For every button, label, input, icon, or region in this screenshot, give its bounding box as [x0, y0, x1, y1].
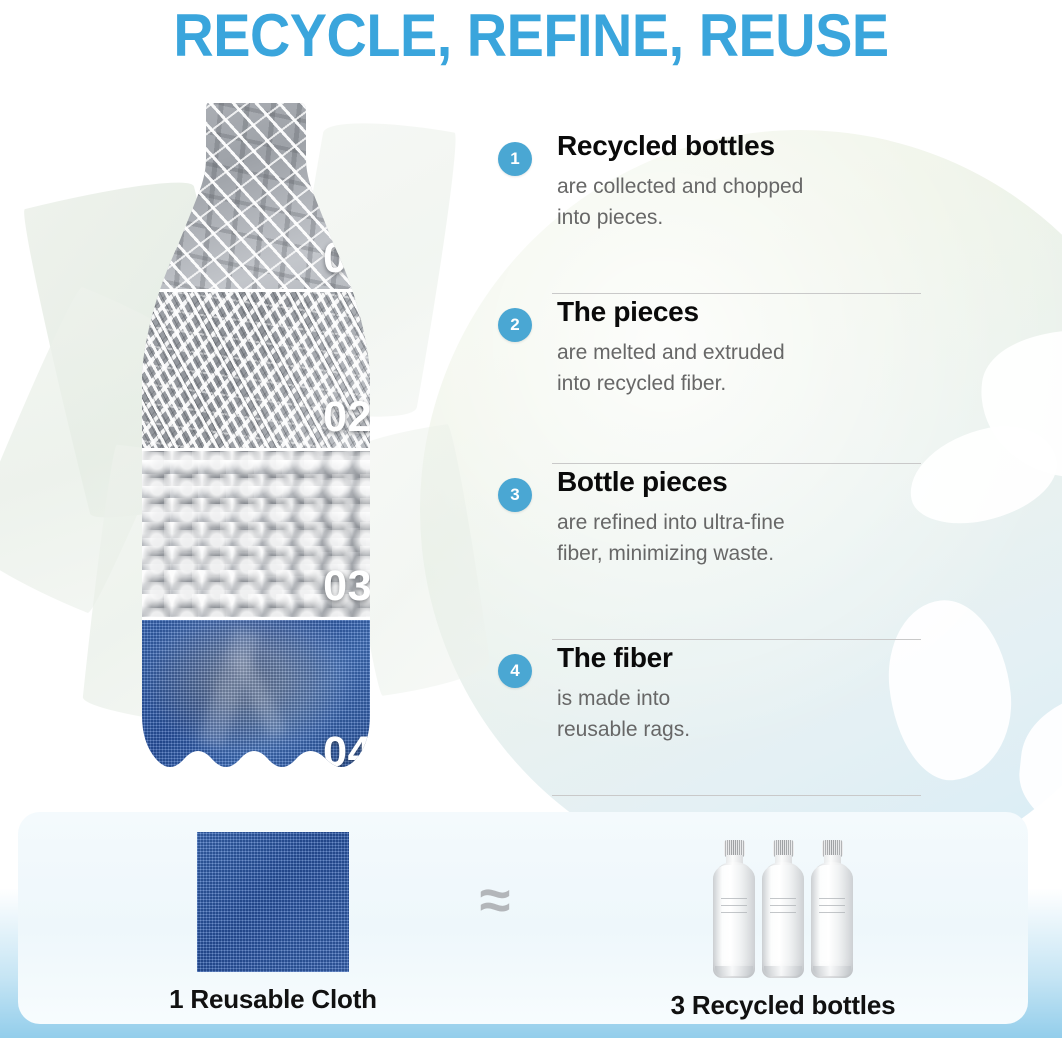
- step-title: The pieces: [557, 294, 935, 330]
- comparison-right-label: 3 Recycled bottles: [618, 990, 948, 1021]
- bottle-ring: [721, 898, 747, 899]
- step-badge-3: 3: [498, 478, 532, 512]
- bottle-base: [764, 966, 802, 976]
- step-description: are melted and extruded into recycled fi…: [557, 337, 935, 399]
- globe-landmass: [971, 315, 1062, 496]
- bottle-ring: [721, 905, 747, 906]
- step-divider: [552, 795, 921, 796]
- bottle-ring: [770, 905, 796, 906]
- step-item-2: 2 The pieces are melted and extruded int…: [495, 294, 935, 464]
- bottle-base: [813, 966, 851, 976]
- step-description-line: fiber, minimizing waste.: [557, 538, 935, 569]
- step-description-line: reusable rags.: [557, 714, 935, 745]
- bottle-body: [762, 865, 804, 978]
- step-title: Bottle pieces: [557, 464, 935, 500]
- step-description: is made into reusable rags.: [557, 683, 935, 745]
- step-description: are collected and chopped into pieces.: [557, 171, 935, 233]
- step-body: Bottle pieces are refined into ultra-fin…: [495, 464, 935, 569]
- approximately-equal-icon: ≈: [462, 868, 528, 932]
- step-item-1: 1 Recycled bottles are collected and cho…: [495, 128, 935, 294]
- step-description-line: are refined into ultra-fine: [557, 507, 935, 538]
- plastic-bottle-icon: [809, 840, 855, 978]
- step-body: Recycled bottles are collected and chopp…: [495, 128, 935, 233]
- bottle-silhouette: 01 02 03 04: [120, 103, 388, 783]
- step-description-line: into pieces.: [557, 202, 935, 233]
- bottle-ring: [770, 898, 796, 899]
- bottle-band-04: 04: [120, 620, 388, 783]
- band-number-label: 01: [323, 234, 372, 283]
- cloth-swatch-icon: [197, 832, 349, 972]
- step-description-line: are collected and chopped: [557, 171, 935, 202]
- step-badge-1: 1: [498, 142, 532, 176]
- infographic-page: RECYCLE, REFINE, REUSE 01 02 03: [0, 0, 1062, 1038]
- step-description-line: are melted and extruded: [557, 337, 935, 368]
- bottle-band-01: 01: [120, 103, 388, 289]
- comparison-left: 1 Reusable Cloth: [158, 832, 388, 1015]
- page-title: RECYCLE, REFINE, REUSE: [37, 4, 1025, 68]
- bottle-diagram: 01 02 03 04: [120, 103, 388, 783]
- bottle-base: [715, 966, 753, 976]
- step-description-line: is made into: [557, 683, 935, 714]
- bottle-ring: [819, 898, 845, 899]
- band-number-label: 04: [323, 728, 372, 777]
- plastic-bottle-icon: [711, 840, 757, 978]
- bottle-band-03: 03: [120, 451, 388, 617]
- step-description: are refined into ultra-fine fiber, minim…: [557, 507, 935, 569]
- bottle-band-02: 02: [120, 292, 388, 448]
- step-badge-4: 4: [498, 654, 532, 688]
- step-item-4: 4 The fiber is made into reusable rags.: [495, 640, 935, 790]
- crushed-pet-flakes-texture: [120, 103, 388, 289]
- step-body: The fiber is made into reusable rags.: [495, 640, 935, 745]
- plastic-bottle-icon: [760, 840, 806, 978]
- step-badge-2: 2: [498, 308, 532, 342]
- bottle-body: [713, 865, 755, 978]
- band-number-label: 03: [323, 562, 372, 611]
- comparison-right: 3 Recycled bottles: [618, 826, 948, 1021]
- step-body: The pieces are melted and extruded into …: [495, 294, 935, 399]
- bottle-ring: [721, 912, 747, 913]
- step-title: Recycled bottles: [557, 128, 935, 164]
- bottle-ring: [770, 912, 796, 913]
- steps-list: 1 Recycled bottles are collected and cho…: [495, 128, 935, 790]
- bottle-ring: [819, 905, 845, 906]
- bottle-body: [811, 865, 853, 978]
- bottle-group-icon: [618, 826, 948, 978]
- comparison-left-label: 1 Reusable Cloth: [158, 984, 388, 1015]
- step-description-line: into recycled fiber.: [557, 368, 935, 399]
- band-number-label: 02: [323, 393, 372, 442]
- step-title: The fiber: [557, 640, 935, 676]
- step-item-3: 3 Bottle pieces are refined into ultra-f…: [495, 464, 935, 640]
- bottle-ring: [819, 912, 845, 913]
